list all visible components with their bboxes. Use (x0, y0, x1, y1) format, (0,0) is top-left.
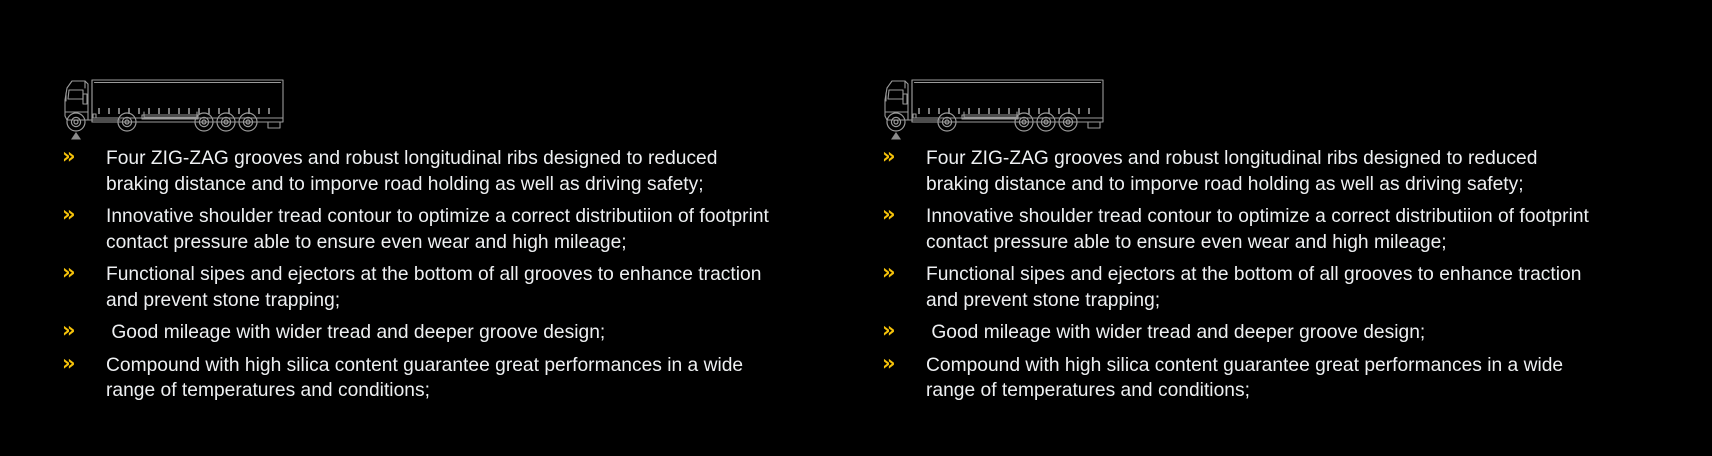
double-chevron-right-icon: » (882, 201, 910, 227)
feature-list: » Four ZIG-ZAG grooves and robust longit… (58, 146, 798, 411)
double-chevron-right-icon: » (882, 350, 910, 376)
feature-text: Four ZIG-ZAG grooves and robust longitud… (926, 146, 1598, 197)
feature-list: » Four ZIG-ZAG grooves and robust longit… (878, 146, 1638, 411)
feature-text: Good mileage with wider tread and deeper… (926, 320, 1598, 346)
truck-icon (878, 68, 1118, 140)
truck-icon (58, 68, 298, 140)
list-item: » Good mileage with wider tread and deep… (878, 320, 1638, 346)
list-item: » Four ZIG-ZAG grooves and robust longit… (58, 146, 798, 197)
list-item: » Compound with high silica content guar… (58, 353, 798, 404)
list-item: » Four ZIG-ZAG grooves and robust longit… (878, 146, 1638, 197)
double-chevron-right-icon: » (882, 143, 910, 169)
feature-column-left: » Four ZIG-ZAG grooves and robust longit… (0, 0, 856, 456)
double-chevron-right-icon: » (62, 350, 90, 376)
feature-columns: » Four ZIG-ZAG grooves and robust longit… (0, 0, 1712, 456)
feature-text: Compound with high silica content guaran… (106, 353, 778, 404)
double-chevron-right-icon: » (62, 317, 90, 343)
list-item: » Functional sipes and ejectors at the b… (58, 262, 798, 313)
truck-trailer-illustration (58, 68, 298, 140)
double-chevron-right-icon: » (882, 259, 910, 285)
double-chevron-right-icon: » (62, 259, 90, 285)
list-item: » Innovative shoulder tread contour to o… (58, 204, 798, 255)
page-root: » Four ZIG-ZAG grooves and robust longit… (0, 0, 1712, 456)
feature-text: Four ZIG-ZAG grooves and robust longitud… (106, 146, 778, 197)
list-item: » Good mileage with wider tread and deep… (58, 320, 798, 346)
feature-text: Compound with high silica content guaran… (926, 353, 1598, 404)
list-item: » Innovative shoulder tread contour to o… (878, 204, 1638, 255)
axle-marker-triangle-icon (891, 132, 901, 140)
list-item: » Compound with high silica content guar… (878, 353, 1638, 404)
double-chevron-right-icon: » (62, 143, 90, 169)
feature-text: Innovative shoulder tread contour to opt… (926, 204, 1598, 255)
feature-text: Functional sipes and ejectors at the bot… (106, 262, 778, 313)
feature-text: Good mileage with wider tread and deeper… (106, 320, 778, 346)
truck-trailer-illustration (878, 68, 1118, 140)
feature-text: Innovative shoulder tread contour to opt… (106, 204, 778, 255)
axle-marker-triangle-icon (71, 132, 81, 140)
double-chevron-right-icon: » (62, 201, 90, 227)
double-chevron-right-icon: » (882, 317, 910, 343)
feature-text: Functional sipes and ejectors at the bot… (926, 262, 1598, 313)
feature-column-right: » Four ZIG-ZAG grooves and robust longit… (856, 0, 1712, 456)
list-item: » Functional sipes and ejectors at the b… (878, 262, 1638, 313)
